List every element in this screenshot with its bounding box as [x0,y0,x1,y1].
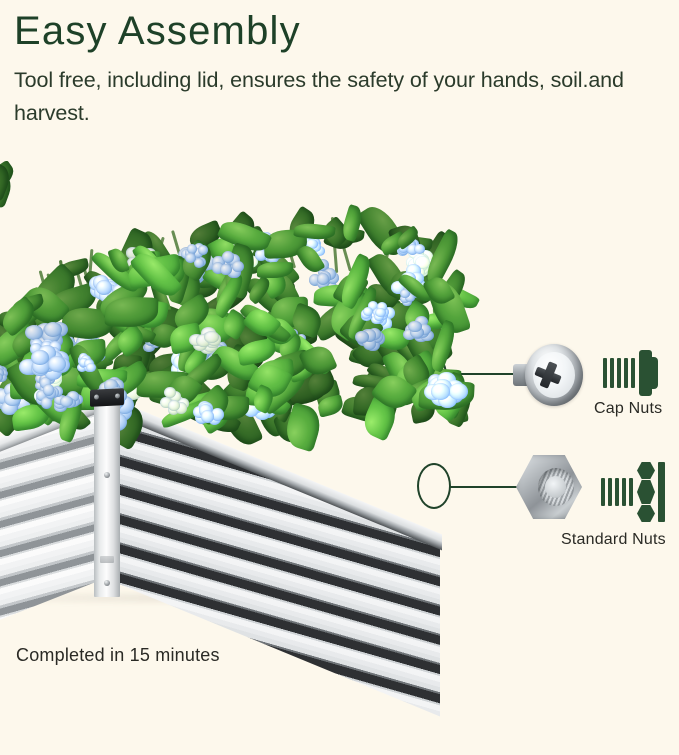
cap-bracket-screw-left [94,394,99,399]
cap-bracket-screw-right [115,393,120,398]
hydrangea-plants [0,170,440,420]
cap-nut-schematic-icon [603,350,663,400]
standard-nuts-label: Standard Nuts [561,531,666,549]
post-bolt-upper [104,472,110,478]
hydrangea-bloom [18,343,71,389]
standard-nuts-highlight-ellipse [417,463,451,509]
raised-garden-bed [0,395,456,755]
brand-emboss [100,556,114,563]
header: Easy Assembly Tool free, including lid, … [14,8,654,130]
corner-cap-bracket [90,388,124,407]
standard-nuts-leader-line [450,486,518,488]
hydrangea-bloom [399,314,439,347]
panel-right-face [104,403,440,716]
standard-nut-schematic-icon [601,462,669,524]
page-subtitle: Tool free, including lid, ensures the sa… [14,64,654,129]
hydrangea-bloom [348,317,388,354]
hydrangea-bloom [186,392,225,429]
promo-graphic: Easy Assembly Tool free, including lid, … [0,0,679,679]
hydrangea-bloom [154,387,189,420]
hex-nut-icon [516,455,582,519]
completion-note: Completed in 15 minutes [16,645,220,666]
hydrangea-bloom [188,321,232,357]
hydrangea-bloom [413,370,469,419]
corner-post [94,404,120,597]
page-title: Easy Assembly [14,8,654,55]
cap-nuts-label: Cap Nuts [594,400,662,418]
phillips-screw-icon [513,340,583,410]
post-bolt-lower [104,580,110,586]
hydrangea-bloom [69,350,98,377]
hydrangea-bloom [180,239,211,268]
hydrangea-bloom [211,250,247,285]
